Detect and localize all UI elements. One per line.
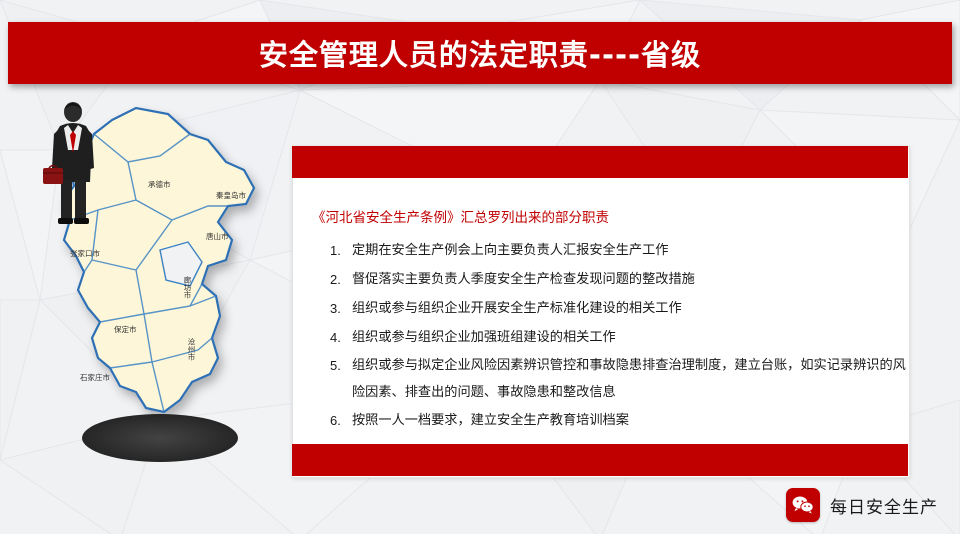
list-item: 定期在安全生产例会上向主要负责人汇报安全生产工作 (330, 236, 916, 265)
list-item: 组织或参与组织企业开展安全生产标准化建设的相关工作 (330, 294, 916, 323)
bottom-white-strip (0, 534, 960, 540)
map-city-label: 保定市 (114, 324, 137, 335)
list-item: 按照一人一档要求，建立安全生产教育培训档案 (330, 406, 916, 435)
map-city-label: 承德市 (148, 179, 171, 190)
hebei-map-illustration: 承德市 秦皇岛市 唐山市 张家口市 廊坊市 保定市 沧州市 石家庄市 (40, 100, 290, 480)
duties-list: 定期在安全生产例会上向主要负责人汇报安全生产工作 督促落实主要负责人季度安全生产… (306, 236, 916, 435)
map-city-label: 唐山市 (206, 231, 229, 242)
list-item: 督促落实主要负责人季度安全生产检查发现问题的整改措施 (330, 265, 916, 294)
wechat-icon (786, 488, 820, 522)
map-city-label: 沧州市 (186, 338, 197, 361)
map-city-label: 秦皇岛市 (216, 190, 246, 201)
card-top-red-bar (292, 146, 908, 178)
list-item: 组织或参与组织企业加强班组建设的相关工作 (330, 323, 916, 352)
page-title: 安全管理人员的法定职责----省级 (259, 32, 701, 74)
card-bottom-red-bar (292, 444, 908, 476)
slide-title-bar: 安全管理人员的法定职责----省级 (8, 22, 952, 84)
map-city-label: 廊坊市 (182, 276, 193, 299)
footer-brand-label: 每日安全生产 (830, 493, 938, 518)
slide-root: 安全管理人员的法定职责----省级 (0, 0, 960, 540)
list-item: 组织或参与拟定企业风险因素辨识管控和事故隐患排查治理制度，建立台账，如实记录辨识… (330, 352, 916, 406)
businessman-figure (40, 100, 112, 230)
regulation-source-note: 《河北省安全生产条例》汇总罗列出来的部分职责 (312, 206, 609, 226)
footer-brand: 每日安全生产 (786, 488, 938, 522)
duties-card-body: 《河北省安全生产条例》汇总罗列出来的部分职责 定期在安全生产例会上向主要负责人汇… (292, 178, 908, 444)
map-city-label: 石家庄市 (80, 372, 110, 383)
map-city-label: 张家口市 (70, 248, 100, 259)
wechat-glyph (792, 496, 814, 514)
